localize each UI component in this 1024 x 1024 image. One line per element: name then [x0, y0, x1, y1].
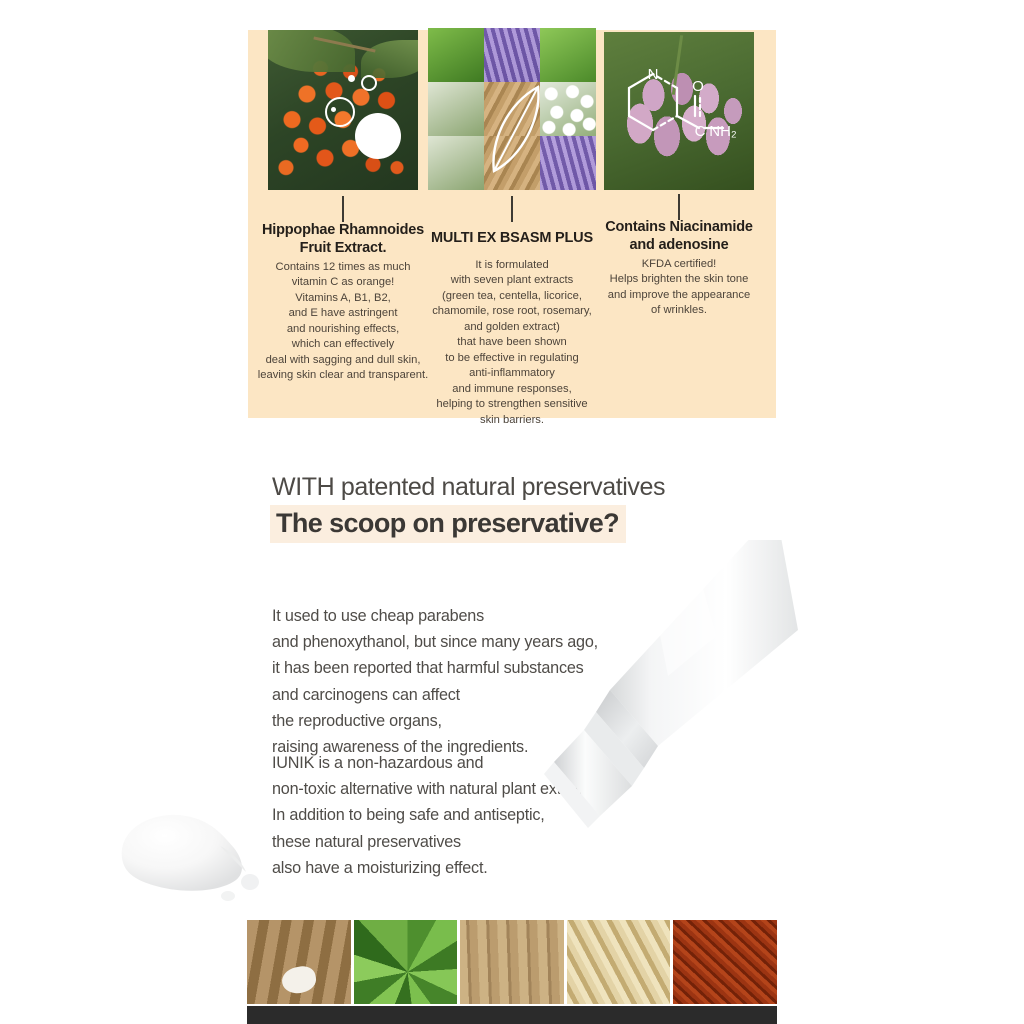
licorice-logs-texture	[460, 920, 564, 1004]
chamomile-tile	[540, 82, 596, 136]
hemp-leaf-photo	[354, 920, 458, 1004]
headline-wrapper: The scoop on preservative?	[270, 505, 626, 543]
preservative-section: WITH patented natural preservatives The …	[0, 440, 1024, 920]
petal-texture	[484, 28, 540, 82]
white-blossom-tile	[428, 82, 484, 136]
leaf-shape	[268, 30, 355, 72]
root-chips-texture	[567, 920, 671, 1004]
burdock-root-photo	[247, 920, 351, 1004]
bubble-overlay-icon	[325, 97, 355, 127]
leaf-shape	[361, 40, 418, 78]
cream-blob-shape	[122, 815, 242, 891]
ingredient-description: KFDA certified! Helps brighten the skin …	[580, 257, 778, 319]
caption-connector-line	[511, 196, 513, 222]
ingredient-photo-strip	[247, 920, 777, 1024]
photo-strip-base-bar	[247, 1006, 777, 1024]
rosemary-tile	[428, 136, 484, 190]
petal-texture	[540, 136, 596, 190]
cream-droplet	[241, 874, 259, 890]
lavender-tile	[540, 136, 596, 190]
ingredient-title: Hippophae Rhamnoides Fruit Extract.	[254, 222, 432, 257]
caption-connector-line	[342, 196, 344, 222]
section-headline: The scoop on preservative?	[270, 505, 626, 543]
molecule-label-amide: NH₂	[709, 123, 737, 140]
licorice-sticks-photo	[460, 920, 564, 1004]
centella-leaf-tile	[540, 28, 596, 82]
root-texture	[247, 920, 351, 1004]
molecule-label-oxygen: O	[692, 78, 704, 95]
ingredient-highlights-section: Hippophae Rhamnoides Fruit Extract. Cont…	[0, 0, 1024, 440]
leaf-outline-overlay-icon	[488, 83, 546, 175]
cream-dollop-illustration	[100, 800, 300, 910]
niacinamide-molecule-overlay-icon: N O C NH₂	[619, 64, 744, 144]
base-cell	[247, 1006, 351, 1024]
section-kicker: WITH patented natural preservatives	[272, 473, 665, 502]
base-cell	[673, 1006, 777, 1024]
green-tea-leaf-tile	[428, 28, 484, 82]
ingredient-title: Contains Niacinamide and adenosine	[590, 219, 768, 254]
cosmetic-tube-illustration	[540, 540, 800, 900]
hemp-leaf-texture	[354, 920, 458, 1004]
base-cell	[567, 1006, 671, 1024]
sea-buckthorn-berries-photo	[268, 30, 418, 190]
caption-connector-line	[678, 194, 680, 220]
comfrey-flowers-photo: N O C NH₂	[604, 32, 754, 190]
cream-droplet	[221, 891, 235, 901]
chamomile-flowers-texture	[540, 82, 596, 136]
purple-flower-tile	[484, 28, 540, 82]
base-cell	[354, 1006, 458, 1024]
molecule-label-nitrogen: N	[648, 66, 659, 83]
ingredient-title: MULTI EX BSASM PLUS	[414, 230, 610, 248]
bubble-overlay-icon	[348, 75, 355, 82]
red-bark-shavings-photo	[673, 920, 777, 1004]
bubble-overlay-icon	[331, 107, 336, 112]
cut-root-slice	[280, 964, 319, 997]
base-cell	[460, 1006, 564, 1024]
dried-root-chips-photo	[567, 920, 671, 1004]
bubble-overlay-icon	[361, 75, 377, 91]
berries-artwork	[268, 30, 418, 190]
bark-shavings-texture	[673, 920, 777, 1004]
bubble-overlay-icon	[355, 113, 401, 159]
molecule-label-carbon: C	[695, 123, 706, 140]
plant-collage-photo	[428, 28, 596, 190]
